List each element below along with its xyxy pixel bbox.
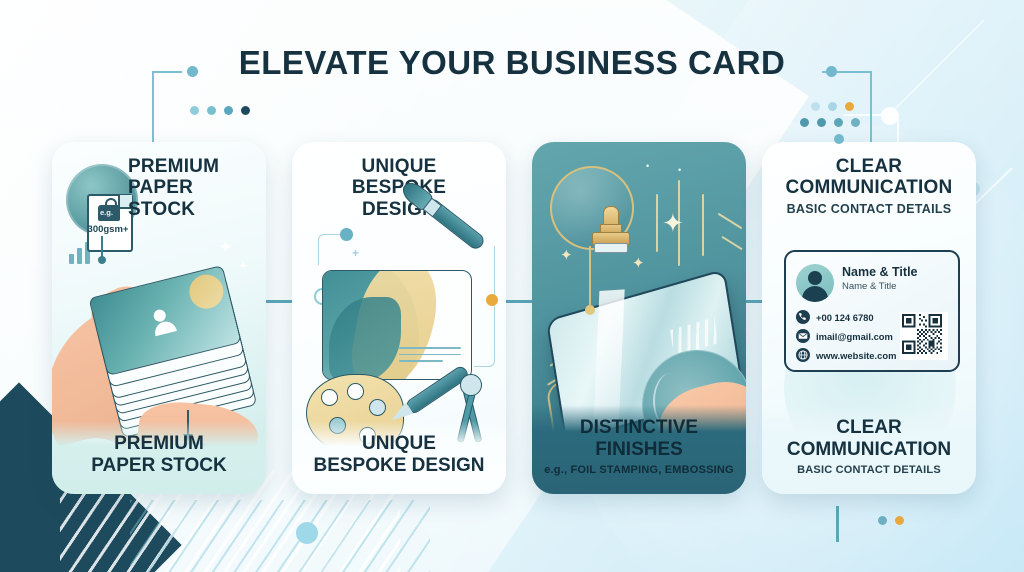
- step-connector-bottom-stem: [836, 506, 839, 542]
- card2-head: UNIQUE BESPOKE DESIGN: [292, 142, 506, 220]
- light-ray: [721, 236, 742, 250]
- card3-foot: DISTINCTIVE FINISHES e.g., FOIL STAMPING…: [532, 405, 746, 494]
- designed-card-preview-icon: [322, 270, 472, 380]
- decor-path-right: [474, 246, 495, 367]
- phone-icon: [796, 310, 810, 324]
- sparkle-dot-icon: •: [678, 166, 681, 175]
- person-avatar-icon: [796, 264, 834, 302]
- infographic-canvas: ELEVATE YOUR BUSINESS CARD: [0, 0, 1024, 572]
- rubber-stamp-badge[interactable]: [550, 166, 634, 250]
- card4-foot-sub: BASIC CONTACT DETAILS: [772, 464, 966, 476]
- card2-foot-line1: UNIQUE: [302, 433, 496, 454]
- card-clear-communication[interactable]: CLEAR COMMUNICATION BASIC CONTACT DETAIL…: [762, 142, 976, 494]
- card4-head-line2: COMMUNICATION: [774, 177, 964, 198]
- contact-card[interactable]: Name & Title Name & Title +00 124 6780 i…: [784, 250, 960, 372]
- contact-website-value: www.website.com: [816, 350, 896, 361]
- card1-foot-line2: PAPER STOCK: [62, 455, 256, 476]
- decor-dots-right-row-top: [811, 102, 854, 111]
- card4-top-node-icon: [834, 134, 844, 144]
- light-ray: [718, 213, 743, 230]
- card1-foot: PREMIUM PAPER STOCK: [52, 421, 266, 494]
- qr-code-icon[interactable]: [900, 312, 948, 360]
- sparkle-icon: ✦: [632, 256, 645, 271]
- card-unique-bespoke-design[interactable]: UNIQUE BESPOKE DESIGN + +: [292, 142, 506, 494]
- contact-name: Name & Title: [842, 265, 918, 279]
- sparkle-icon: ✦: [662, 210, 684, 236]
- card4-head: CLEAR COMMUNICATION BASIC CONTACT DETAIL…: [762, 142, 976, 216]
- envelope-icon: [796, 329, 810, 343]
- card1-foot-line1: PREMIUM: [62, 433, 256, 454]
- card-stack-icon: [88, 264, 247, 391]
- card3-foot-line2: FINISHES: [542, 439, 736, 460]
- contact-row-phone[interactable]: +00 124 6780: [796, 310, 896, 324]
- card1-head-line1: PREMIUM: [128, 156, 254, 177]
- decor-dots-right-row-bottom: [800, 118, 860, 127]
- sparkle-icon: ✦: [560, 248, 573, 263]
- contact-phone-value: +00 124 6780: [816, 312, 874, 323]
- card-distinctive-finishes[interactable]: ✦ ✦ ✦ ✦ • • DISTINCTIVE FINISHES e.g., F…: [532, 142, 746, 494]
- card-text-lines: [399, 347, 461, 367]
- badge-stem: [101, 236, 103, 260]
- contact-row-email[interactable]: imail@gmail.com: [796, 329, 896, 343]
- card4-foot: CLEAR COMMUNICATION BASIC CONTACT DETAIL…: [762, 405, 976, 494]
- card1-head-line2: PAPER: [128, 177, 254, 198]
- card4-foot-line1: CLEAR: [772, 417, 966, 438]
- rubber-stamp-icon: [592, 206, 628, 256]
- card1-head: PREMIUM PAPER STOCK: [52, 142, 266, 220]
- contact-email-value: imail@gmail.com: [816, 331, 893, 342]
- card-premium-paper-stock[interactable]: ✦ ✦ e.g. 300gsm+ PREMIUM PAPER STOCK PRE…: [52, 142, 266, 494]
- decor-dots-bottom-right: [878, 516, 904, 525]
- light-ray: [656, 194, 658, 252]
- card4-head-line1: CLEAR: [774, 156, 964, 177]
- light-ray: [702, 194, 704, 256]
- contact-row-website[interactable]: www.website.com: [796, 348, 896, 362]
- contact-rows: +00 124 6780 imail@gmail.com www.website…: [796, 310, 896, 367]
- card3-foot-sub: e.g., FOIL STAMPING, EMBOSSING: [542, 464, 736, 476]
- card4-foot-line2: COMMUNICATION: [772, 439, 966, 460]
- card4-head-sub: BASIC CONTACT DETAILS: [774, 202, 964, 216]
- card2-foot: UNIQUE BESPOKE DESIGN: [292, 421, 506, 494]
- decor-node-icon-a: [340, 228, 353, 241]
- page-title-wrap: ELEVATE YOUR BUSINESS CARD: [0, 46, 1024, 79]
- sparkle-icon-small: ✦: [238, 260, 248, 272]
- decor-node-amber-icon: [486, 294, 498, 306]
- contact-subtitle: Name & Title: [842, 281, 896, 292]
- page-title: ELEVATE YOUR BUSINESS CARD: [239, 46, 786, 79]
- sparkle-icon: ✦: [218, 238, 233, 256]
- globe-icon: [796, 348, 810, 362]
- background-hatch-teal: [130, 500, 430, 572]
- badge-stem: [589, 246, 591, 310]
- card2-head-line2: BESPOKE: [304, 177, 494, 198]
- badge-weight-value: 300gsm+: [78, 224, 138, 235]
- card2-foot-line2: BESPOKE DESIGN: [302, 455, 496, 476]
- card2-head-line1: UNIQUE: [304, 156, 494, 177]
- step-connector-1-2: [262, 300, 296, 303]
- card3-foot-line1: DISTINCTIVE: [542, 417, 736, 438]
- sparkle-dot-icon: •: [646, 162, 649, 171]
- decor-dots-left-row: [190, 106, 250, 115]
- card1-head-line3: STOCK: [128, 199, 254, 220]
- person-glyph-icon: [146, 303, 182, 339]
- card2-head-line3: DESIGN: [304, 199, 494, 220]
- plus-accent-icon-2: +: [352, 246, 359, 260]
- decor-dot-floating-left: [296, 522, 318, 544]
